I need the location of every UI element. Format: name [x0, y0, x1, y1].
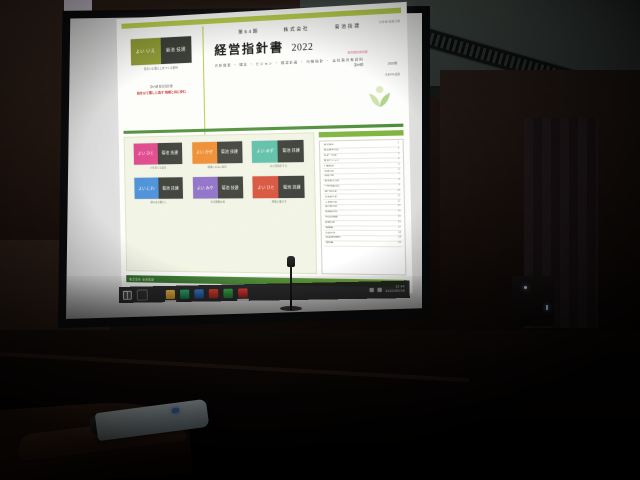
left-column-red-text: 和を以て尊しと為す 地域と共に歩む: [123, 89, 201, 96]
brand-tile-item[interactable]: よい みず 菊池 技建 水と環境を守る: [250, 140, 307, 169]
brand-right-word: 菊池 技建: [166, 47, 186, 53]
tile-right-half: 菊池 技建: [217, 177, 243, 199]
toc-item-page: 16: [398, 221, 401, 225]
toc-item-title: 社員心得: [326, 231, 336, 234]
toc-item-page: 11: [397, 195, 400, 199]
brand-tiles-grid: よい ひと 菊池 技建 人を育てる会社 よい かぜ: [124, 132, 318, 274]
tile-word: よい かぜ: [196, 150, 213, 155]
word-icon[interactable]: [194, 289, 203, 298]
brand-tile-row: よい にわ 菊池 技建 庭のある暮らし よい みや: [129, 176, 310, 205]
tile-left-half: よい かぜ: [192, 142, 217, 164]
toc-item-title: 部門別方針: [325, 190, 338, 194]
tile-left-half: よい ひと: [253, 177, 279, 199]
leaf-decoration-icon: [365, 83, 395, 112]
equipment-led-strip: [546, 305, 548, 310]
toc-item-title: 環境方針: [324, 170, 334, 174]
tile-word: よい みず: [256, 149, 273, 154]
tile-caption: 人を育てる会社: [132, 167, 184, 171]
brand-tile: よい みや 菊池 技建: [193, 177, 243, 199]
tray-volume-icon[interactable]: [377, 288, 382, 292]
tile-word: よい にわ: [138, 186, 154, 191]
taskbar-clock[interactable]: 11:42 2022/05/18: [385, 286, 405, 294]
microphone-stand: [290, 262, 292, 310]
toc-item-page: 13: [397, 205, 400, 209]
slide-mini-label-1: 第64期: [354, 62, 363, 67]
table-of-contents-panel: 経営理念 1 経営基本方針 2 社是・社訓 3 経営ビジョン 4 行動指: [319, 130, 406, 275]
brand-tile-item[interactable]: よい かぜ 菊池 技建 風通しのよい会社: [190, 141, 245, 169]
toc-item-title: 安全衛生方針: [325, 180, 340, 184]
toc-item[interactable]: 資料編 20: [325, 241, 403, 247]
toc-item-title: 社是・社訓: [324, 154, 337, 158]
toc-item-page: 12: [397, 200, 400, 204]
brand-tile-item[interactable]: よい にわ 菊池 技建 庭のある暮らし: [132, 178, 185, 205]
slide-content: よい いえ 菊池 技建 住まいと暮らしをつくる会社 第64期 経営指針書 和を以…: [116, 2, 412, 293]
toc-item-page: 17: [398, 226, 401, 230]
brand-logo-right-half: 菊池 技建: [160, 36, 191, 64]
toc-item-title: 工事部方針: [325, 200, 338, 204]
file-explorer-icon[interactable]: [166, 289, 175, 298]
brand-tile-item[interactable]: よい ひと 菊池 技建 人を育てる会社: [132, 143, 185, 171]
taskbar-pinned-group: [166, 288, 248, 299]
tile-left-half: よい にわ: [134, 178, 158, 199]
tile-brand-word: 菊池 技建: [221, 150, 238, 155]
toc-item-page: 3: [398, 153, 400, 157]
microphone-base: [280, 306, 302, 311]
toc-item-page: 19: [398, 237, 401, 241]
equipment-led-indicator: [524, 286, 527, 289]
brand-tile: よい ひと 菊池 技建: [134, 143, 183, 165]
slide-lower-body: よい ひと 菊池 技建 人を育てる会社 よい かぜ: [124, 130, 407, 275]
brand-tile: よい かぜ 菊池 技建: [192, 141, 242, 164]
toc-item-title: 行動指針: [324, 164, 334, 168]
tile-brand-word: 菊池 技建: [222, 186, 239, 191]
tile-caption: 地域に根ざす: [251, 201, 307, 204]
tile-right-half: 菊池 技建: [279, 176, 306, 198]
toc-item-title: 経営理念: [324, 144, 334, 148]
toc-item-title: 経営ビジョン: [324, 159, 339, 163]
brand-caption: 住まいと暮らしをつくる会社: [122, 65, 200, 72]
slide-mini-label-2: 2022年: [388, 61, 398, 66]
toc-item-page: 18: [398, 232, 401, 236]
tile-brand-word: 菊池 技建: [283, 185, 301, 190]
toc-item-page: 1: [398, 142, 400, 146]
taskbar-left-group: [123, 289, 148, 301]
brand-tile-item[interactable]: よい みや 菊池 技建 社寺建築の技: [190, 177, 245, 205]
tile-left-half: よい みや: [193, 177, 218, 199]
toc-item-title: 営業部方針: [325, 195, 338, 199]
toc-item-page: 9: [398, 184, 400, 188]
tile-word: よい ひと: [138, 152, 154, 157]
kicker-company-name: 菊池技建: [334, 23, 361, 30]
toc-item-page: 20: [398, 242, 401, 246]
tile-right-half: 菊池 技建: [158, 143, 183, 165]
toc-item-title: 品質方針: [324, 175, 334, 179]
tile-caption: 庭のある暮らし: [133, 202, 185, 205]
clock-date: 2022/05/18: [385, 289, 405, 293]
toc-item-title: 管理部方針: [325, 211, 338, 214]
brand-tile-row: よい ひと 菊池 技建 人を育てる会社 よい かぜ: [129, 140, 310, 171]
tile-brand-word: 菊池 技建: [162, 186, 179, 191]
toc-header-bar: [319, 130, 403, 137]
brand-logo-left-half: よい いえ: [130, 38, 160, 66]
toc-item-page: 2: [398, 148, 400, 152]
excel-icon[interactable]: [180, 289, 189, 298]
toc-item-title: 設計部方針: [325, 206, 338, 209]
toc-list[interactable]: 経営理念 1 経営基本方針 2 社是・社訓 3 経営ビジョン 4 行動指: [319, 139, 406, 276]
kicker-term: 第64期: [238, 28, 259, 36]
toc-item-page: 5: [398, 163, 400, 167]
toc-item-page: 15: [398, 216, 401, 220]
toc-item-page: 6: [398, 169, 400, 173]
toc-item-title: 組織図: [325, 226, 333, 229]
slide-main-title: 経営指針書: [214, 41, 284, 57]
slide-mini-value: 令和4年度版: [385, 72, 400, 77]
toc-item-page: 7: [398, 174, 400, 178]
brand-left-word: よい いえ: [136, 48, 156, 54]
toc-item-page: 10: [397, 190, 400, 194]
acrobat-icon[interactable]: [238, 288, 248, 298]
tile-caption: 社寺建築の技: [191, 201, 245, 204]
tile-right-half: 菊池 技建: [217, 141, 243, 163]
toc-item-title: 年間計画表: [325, 216, 338, 219]
slide-title-year: 2022: [291, 41, 313, 53]
brand-tile: よい にわ 菊池 技建: [134, 178, 183, 200]
tile-brand-word: 菊池 技建: [282, 149, 300, 154]
av-equipment-rack: [512, 276, 554, 326]
tile-word: よい ひと: [257, 185, 274, 190]
tile-left-half: よい ひと: [134, 143, 158, 165]
powerpoint-icon[interactable]: [209, 288, 219, 297]
left-wall-pillar: [0, 0, 64, 250]
tile-left-half: よい みず: [252, 140, 278, 162]
tray-network-icon[interactable]: [369, 288, 374, 292]
brand-tile-item[interactable]: よい ひと 菊池 技建 地域に根ざす: [251, 176, 308, 204]
brand-tile: よい みず 菊池 技建: [252, 140, 304, 163]
photo-scene: よい いえ 菊池 技建 住まいと暮らしをつくる会社 第64期 経営指針書 和を以…: [0, 0, 640, 480]
toc-item-title: 就業規則抜粋: [326, 237, 341, 241]
tile-caption: 風通しのよい会社: [190, 166, 244, 170]
brand-tile: よい ひと 菊池 技建: [253, 176, 305, 198]
tile-word: よい みや: [197, 186, 214, 191]
presentation-slide[interactable]: よい いえ 菊池 技建 住まいと暮らしをつくる会社 第64期 経営指針書 和を以…: [116, 2, 412, 293]
slide-pink-label: 経営理念体系図: [348, 49, 368, 54]
search-icon[interactable]: [137, 289, 148, 300]
toc-item-page: 4: [398, 158, 400, 162]
kicker-company-type: 株式会社: [284, 26, 310, 34]
slide-footer-text: 株式会社 菊池技建: [129, 277, 154, 281]
tile-right-half: 菊池 技建: [158, 178, 183, 200]
toc-item-page: 8: [398, 179, 400, 183]
tile-brand-word: 菊池 技建: [162, 151, 179, 156]
taskbar-system-tray: 11:42 2022/05/18: [369, 286, 405, 294]
tile-right-half: 菊池 技建: [278, 140, 305, 163]
brand-logo-tile: よい いえ 菊池 技建: [130, 36, 191, 65]
toc-item-page: 14: [398, 211, 401, 215]
tile-caption: 水と環境を守る: [251, 165, 307, 169]
toc-item-title: 資料編: [326, 242, 334, 246]
toc-item-title: 経営基本方針: [324, 149, 339, 153]
onenote-icon[interactable]: [223, 288, 233, 297]
start-button-icon[interactable]: [123, 290, 132, 299]
toc-item-title: 人材育成方針: [325, 185, 340, 189]
toc-item-title: 数値目標: [325, 221, 335, 224]
